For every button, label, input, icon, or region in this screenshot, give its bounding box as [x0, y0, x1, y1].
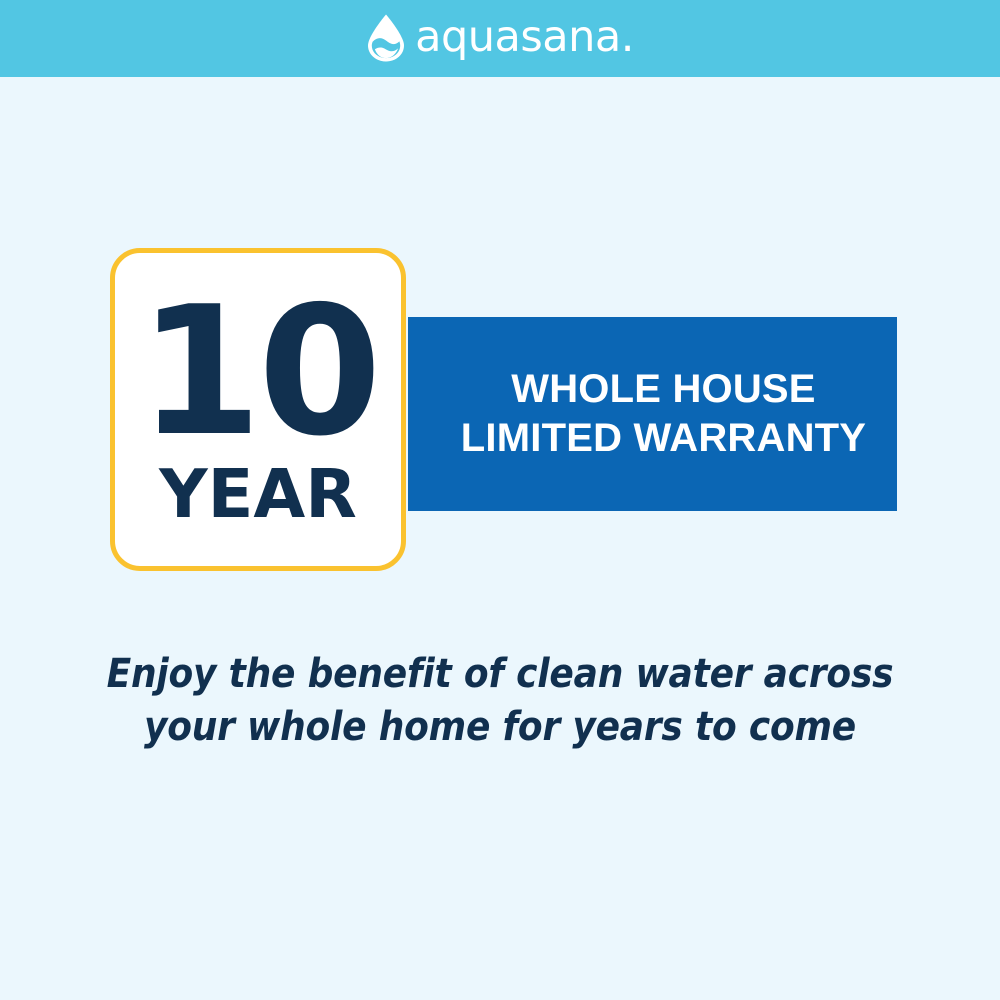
warranty-banner-line-1: WHOLE HOUSE: [461, 365, 866, 414]
warranty-banner-text: WHOLE HOUSE LIMITED WARRANTY: [439, 365, 866, 463]
warranty-banner-line-2: LIMITED WARRANTY: [461, 414, 866, 463]
tagline-line-1: Enjoy the benefit of clean water across: [100, 648, 900, 701]
warranty-years-unit-label: YEAR: [159, 461, 357, 528]
tagline-line-2: your whole home for years to come: [100, 701, 900, 754]
warranty-banner: WHOLE HOUSE LIMITED WARRANTY: [408, 317, 897, 511]
warranty-composition: WHOLE HOUSE LIMITED WARRANTY 10 YEAR: [0, 0, 1000, 1000]
warranty-year-badge: 10 YEAR: [110, 248, 406, 571]
tagline: Enjoy the benefit of clean water across …: [100, 648, 900, 754]
warranty-years-number: 10: [138, 297, 378, 447]
promo-graphic: aquasana. WHOLE HOUSE LIMITED WARRANTY 1…: [0, 0, 1000, 1000]
warranty-year-badge-content: 10 YEAR: [115, 253, 401, 566]
